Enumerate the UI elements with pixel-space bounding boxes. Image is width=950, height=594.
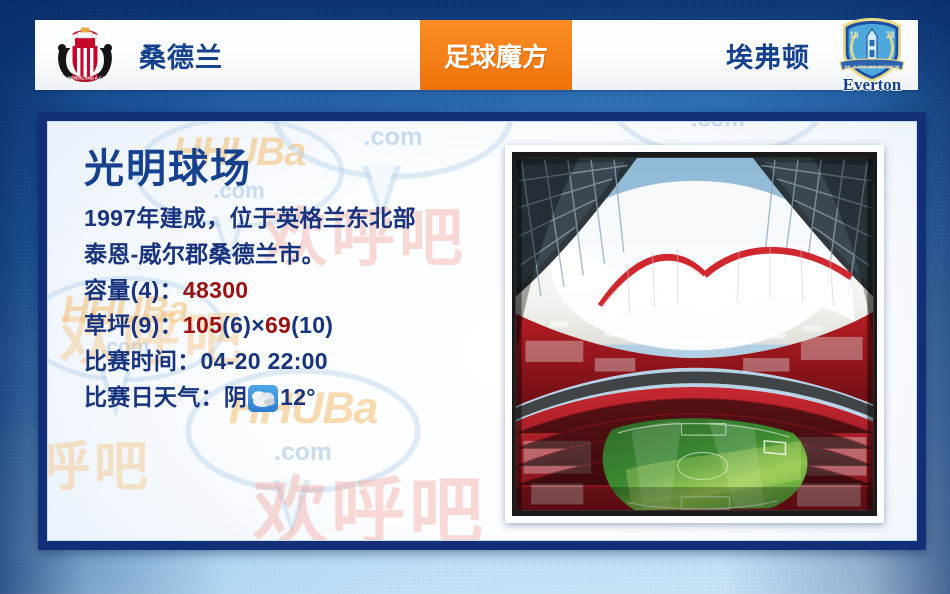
capacity-label: 容量(4)： (84, 277, 183, 303)
everton-year-right: 78 (886, 30, 896, 40)
match-weather-temp: 12° (280, 380, 316, 416)
away-team-block[interactable]: 埃弗顿 18 78 NIL SATIS NISI OPTI (726, 20, 918, 90)
pitch-width-rank: (10) (291, 312, 333, 338)
stadium-info-panel-inner: HHUBa .com HHUBa .com HHUBa .com HHUBa .… (47, 121, 917, 541)
svg-text:SUNDERLAND A.F.C.: SUNDERLAND A.F.C. (63, 75, 107, 80)
capacity-value: 48300 (183, 277, 248, 303)
pitch-times-symbol: × (251, 312, 265, 338)
stadium-photo (512, 152, 877, 516)
everton-year-left: 18 (850, 30, 860, 40)
stadium-description-line-2: 泰恩-威尔郡桑德兰市。 (84, 237, 504, 273)
svg-text:NIL SATIS NISI OPTIMUM: NIL SATIS NISI OPTIMUM (845, 65, 900, 70)
stadium-description-line-1: 1997年建成，位于英格兰东北部 (84, 201, 504, 237)
everton-wordmark: Everton (843, 75, 902, 94)
stadium-info-panel: HHUBa .com HHUBa .com HHUBa .com HHUBa .… (38, 112, 926, 550)
watermark-brand-cn: 欢呼吧 (253, 452, 487, 541)
match-header-bar: SUNDERLAND A.F.C. 桑德兰 足球魔方 埃弗顿 (35, 20, 918, 90)
pitch-width-value: 69 (265, 312, 291, 338)
match-time-label: 比赛时间： (84, 348, 201, 374)
match-time-value: 04-20 22:00 (201, 348, 328, 374)
away-team-name: 埃弗顿 (726, 36, 810, 75)
site-logo-text: 足球魔方 (444, 37, 548, 74)
stadium-title: 光明球场 (84, 147, 504, 192)
match-weather-label: 比赛日天气： (84, 380, 224, 416)
pitch-length-value: 105 (183, 312, 222, 338)
site-logo[interactable]: 足球魔方 (420, 20, 572, 90)
home-team-name: 桑德兰 (139, 36, 223, 75)
match-weather-line: 比赛日天气：阴12° (84, 380, 504, 416)
match-time-line: 比赛时间：04-20 22:00 (84, 344, 504, 380)
pitch-label: 草坪(9)： (84, 312, 183, 338)
capacity-line: 容量(4)：48300 (84, 273, 504, 309)
match-weather-condition: 阴 (224, 380, 247, 416)
stadium-info-text: 光明球场 1997年建成，位于英格兰东北部 泰恩-威尔郡桑德兰市。 容量(4)：… (84, 147, 504, 416)
watermark-brand-cn: 欢呼吧 (47, 422, 152, 501)
pitch-length-rank: (6) (222, 312, 251, 338)
stadium-photo-frame (505, 145, 884, 523)
home-team-block[interactable]: SUNDERLAND A.F.C. 桑德兰 (35, 20, 223, 90)
cloudy-icon (248, 385, 278, 412)
everton-crest-icon: 18 78 NIL SATIS NISI OPTIMUM Everton (832, 16, 912, 94)
sunderland-crest-icon: SUNDERLAND A.F.C. (53, 24, 117, 86)
pitch-line: 草坪(9)：105(6)×69(10) (84, 308, 504, 344)
